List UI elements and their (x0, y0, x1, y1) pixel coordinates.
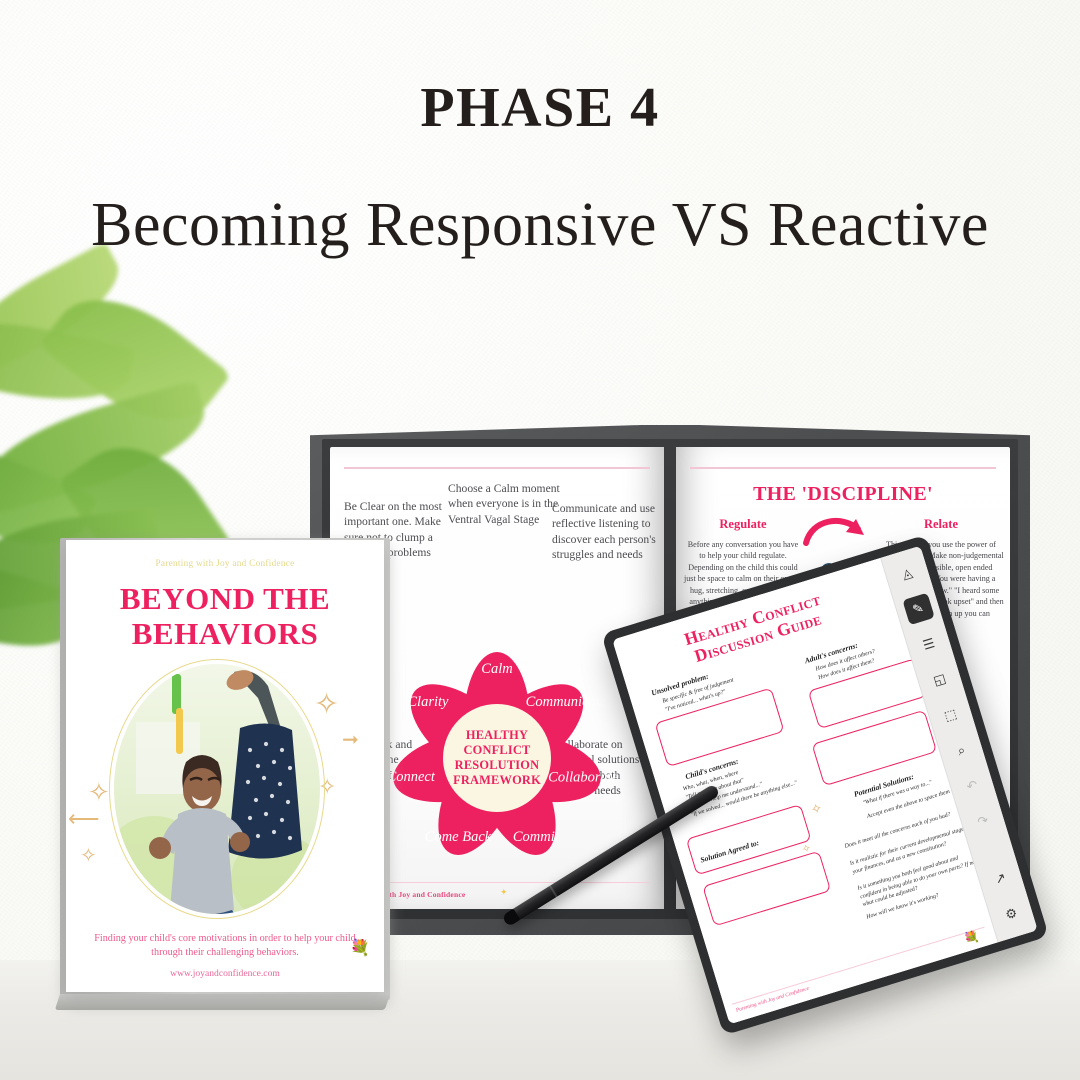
flower-petal-label: Clarity (408, 694, 449, 711)
cover-url: www.joyandconfidence.com (66, 968, 384, 979)
flower-description-calm: Choose a Calm moment when everyone is in… (448, 481, 560, 527)
section-heading-regulate: Regulate (700, 517, 786, 532)
flower-petal-label: Connect (387, 769, 435, 786)
cover-title-line-1: BEYOND THE (66, 582, 384, 617)
eraser-icon[interactable]: ◱ (924, 664, 956, 696)
core-line-3: RESOLUTION (455, 758, 540, 773)
flower-core-label: HEALTHY CONFLICT RESOLUTION FRAMEWORK (443, 704, 551, 812)
cover-photo (114, 664, 320, 914)
flower-petal-label: Commit (513, 829, 559, 846)
sparkle-icon: ✧ (318, 776, 336, 798)
flower-petal-label: Come Back (425, 829, 491, 846)
cover-base-shelf (55, 994, 390, 1010)
sparkle-icon: ✧ (314, 690, 339, 720)
undo-icon[interactable]: ↶ (956, 770, 988, 802)
sparkle-icon: ✧ (80, 846, 97, 866)
sparkle-icon: ✧ (88, 780, 110, 806)
butterfly-logo-icon: 💐 (962, 929, 981, 948)
sparkle-icon: ⟵ (68, 808, 100, 830)
core-line-4: FRAMEWORK (453, 773, 541, 788)
select-icon[interactable]: ⬚ (934, 699, 966, 731)
cover-face: Parenting with Joy and Confidence BEYOND… (66, 540, 384, 992)
zoom-icon[interactable]: ⌕ (945, 734, 977, 766)
core-line-2: CONFLICT (463, 743, 530, 758)
butterfly-logo-icon: 💐 (350, 938, 370, 958)
discipline-title: THE 'DISCIPLINE' (676, 483, 1010, 506)
section-heading-relate: Relate (898, 517, 984, 532)
redo-icon[interactable]: ↷ (967, 805, 999, 837)
page-top-rule (690, 467, 996, 469)
curved-arrow-icon (802, 513, 868, 553)
page-top-rule (344, 467, 650, 469)
layers-icon[interactable]: ☰ (913, 628, 945, 660)
flower-description-communicate: Communicate and use reflective listening… (552, 501, 656, 563)
cover-tagline: Finding your child's core motivations in… (88, 932, 362, 961)
healthy-conflict-flower-diagram: Calm Communicate Collaborate Commit Come… (382, 643, 612, 873)
footer-star-icon: ✦ (500, 887, 508, 898)
flower-petal-label: Calm (481, 661, 512, 678)
settings-icon[interactable]: ⚙ (995, 898, 1027, 930)
ebook-cover: Parenting with Joy and Confidence BEYOND… (60, 538, 390, 1008)
history-icon[interactable]: ◬ (891, 557, 923, 589)
pen-icon[interactable]: ✎ (902, 593, 934, 625)
core-line-1: HEALTHY (466, 728, 528, 743)
export-icon[interactable]: ↗ (984, 863, 1016, 895)
page-title: Becoming Responsive VS Reactive (0, 190, 1080, 261)
cover-title-line-2: BEHAVIORS (66, 617, 384, 652)
sparkle-icon: ✧ (809, 802, 824, 819)
flower-petal-label: Communicate (526, 694, 607, 711)
cover-photo-illustration (114, 664, 320, 914)
cover-title: BEYOND THE BEHAVIORS (66, 582, 384, 651)
flower-petal-label: Collaborate (548, 769, 618, 786)
phase-label: PHASE 4 (0, 76, 1080, 140)
cover-kicker: Parenting with Joy and Confidence (66, 558, 384, 568)
toolbar-spacer (990, 844, 994, 855)
sparkle-icon: ➞ (342, 730, 359, 750)
